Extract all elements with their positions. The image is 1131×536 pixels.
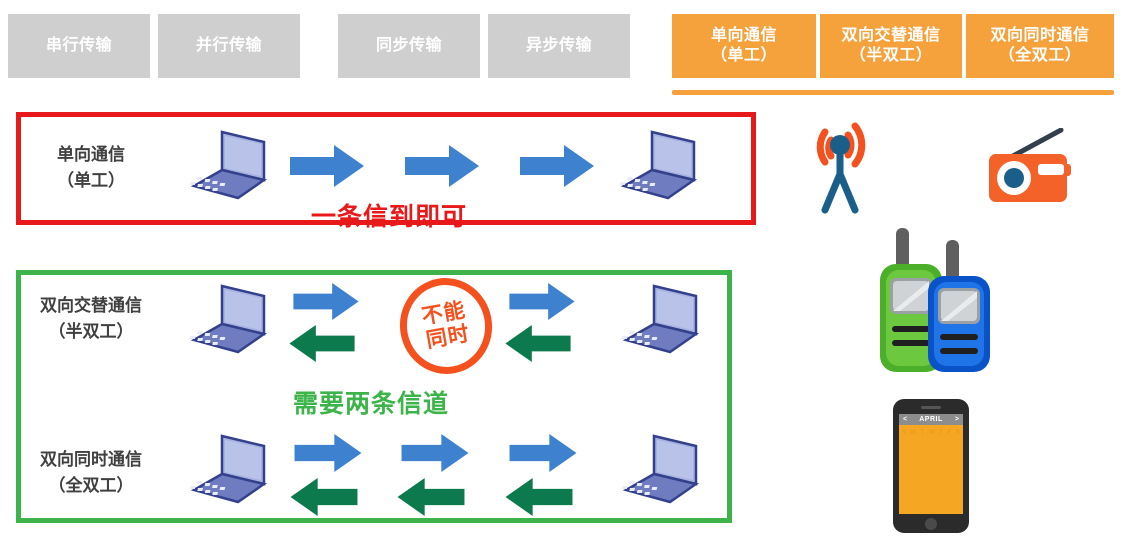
walkie-talkie-pair-icon bbox=[866, 226, 1006, 376]
arrow-backward-icon bbox=[396, 478, 466, 516]
arrow-backward-icon bbox=[505, 325, 571, 362]
tab-serial-transmission[interactable]: 串行传输 bbox=[8, 14, 150, 78]
laptop-icon bbox=[618, 432, 704, 506]
radio-icon bbox=[983, 128, 1075, 208]
laptop-icon bbox=[186, 432, 272, 506]
weekday-label: T bbox=[939, 430, 943, 436]
duplex-caption: 需要两条信道 bbox=[293, 384, 449, 420]
calendar-month-label: APRIL bbox=[919, 416, 943, 423]
tab-asynchronous-transmission[interactable]: 异步传输 bbox=[488, 14, 630, 78]
phone-calendar-weekdays: S M T W T F S bbox=[899, 430, 963, 436]
tab-full-duplex[interactable]: 双向同时通信 （全双工） bbox=[966, 14, 1114, 78]
simplex-row-label: 单向通信 （单工） bbox=[26, 142, 156, 193]
arrow-forward-icon bbox=[520, 145, 594, 187]
laptop-icon bbox=[186, 128, 272, 202]
tab-parallel-transmission[interactable]: 并行传输 bbox=[158, 14, 300, 78]
simplex-caption: 一条信到即可 bbox=[311, 197, 467, 233]
calendar-prev-icon[interactable]: < bbox=[903, 416, 907, 423]
weekday-label: S bbox=[902, 430, 906, 436]
arrow-forward-icon bbox=[400, 434, 470, 472]
arrow-forward-icon bbox=[508, 434, 578, 472]
calendar-next-icon[interactable]: > bbox=[955, 416, 959, 423]
laptop-icon bbox=[618, 282, 704, 356]
full-duplex-row-label: 双向同时通信 （全双工） bbox=[16, 447, 166, 498]
tab-strip: 串行传输 并行传输 同步传输 异步传输 单向通信 （单工） 双向交替通信 （半双… bbox=[0, 0, 1131, 100]
tab-synchronous-transmission[interactable]: 同步传输 bbox=[338, 14, 480, 78]
weekday-label: S bbox=[956, 430, 960, 436]
weekday-label: M bbox=[911, 430, 916, 436]
weekday-label: T bbox=[920, 430, 924, 436]
weekday-label: F bbox=[948, 430, 952, 436]
arrow-forward-icon bbox=[509, 283, 575, 320]
arrow-forward-icon bbox=[293, 283, 359, 320]
arrow-forward-icon bbox=[405, 145, 479, 187]
tab-half-duplex[interactable]: 双向交替通信 （半双工） bbox=[820, 14, 962, 78]
arrow-forward-icon bbox=[290, 145, 364, 187]
active-tab-group-underline bbox=[672, 90, 1114, 95]
laptop-icon bbox=[186, 282, 272, 356]
arrow-backward-icon bbox=[289, 478, 359, 516]
broadcast-tower-icon bbox=[795, 112, 887, 214]
laptop-icon bbox=[616, 128, 702, 202]
weekday-label: W bbox=[929, 430, 935, 436]
arrow-backward-icon bbox=[504, 478, 574, 516]
half-duplex-row-label: 双向交替通信 （半双工） bbox=[16, 293, 166, 344]
arrow-backward-icon bbox=[289, 325, 355, 362]
arrow-forward-icon bbox=[293, 434, 363, 472]
phone-calendar-header: < APRIL > bbox=[899, 414, 963, 425]
tab-simplex[interactable]: 单向通信 （单工） bbox=[672, 14, 816, 78]
